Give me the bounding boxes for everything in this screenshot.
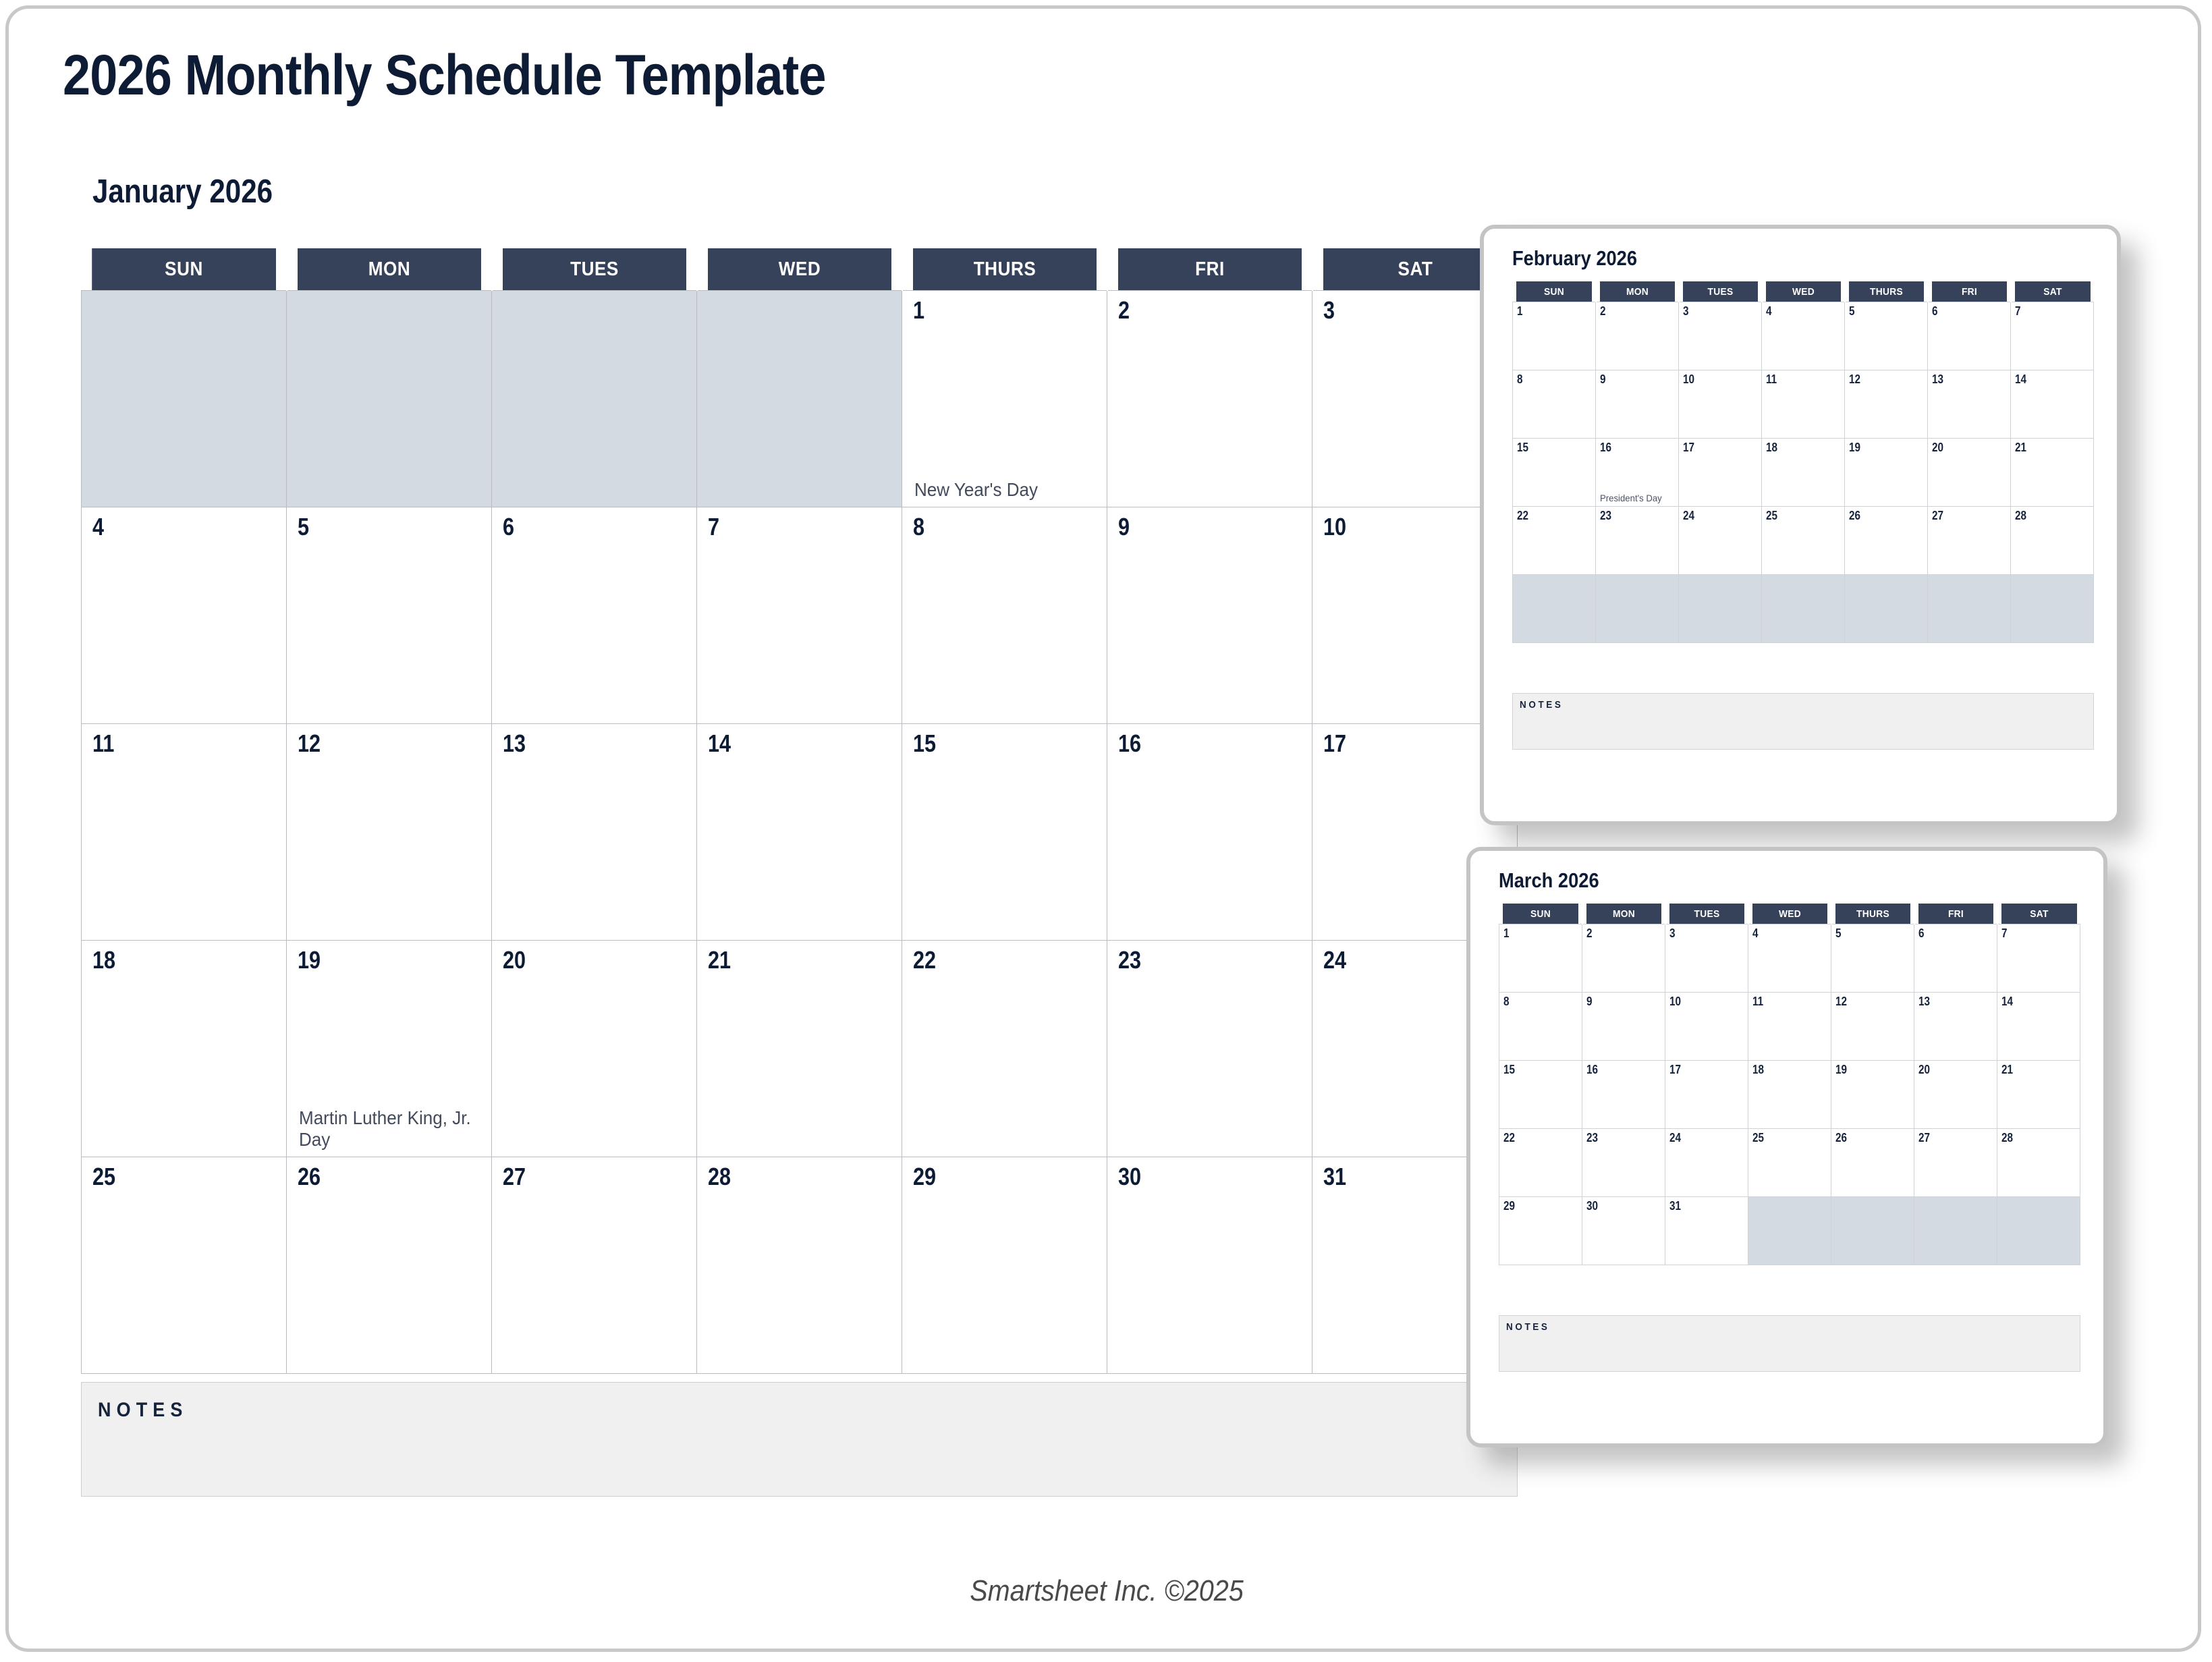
weekday-header-thurs: THURS bbox=[1834, 904, 1910, 924]
day-number: 25 bbox=[1766, 509, 1777, 523]
day-number: 4 bbox=[92, 513, 104, 541]
calendar-cell-day[interactable]: 27 bbox=[1928, 507, 2011, 575]
calendar-cell-day[interactable]: 3 bbox=[1665, 924, 1748, 993]
calendar-cell-day[interactable]: 18 bbox=[1748, 1061, 1831, 1129]
day-number: 1 bbox=[1503, 926, 1510, 941]
day-number: 18 bbox=[92, 946, 115, 974]
day-number: 18 bbox=[1766, 441, 1777, 455]
notes-label: NOTES bbox=[1520, 699, 1564, 711]
day-number: 27 bbox=[1918, 1131, 1930, 1145]
calendar-cell-empty bbox=[82, 291, 287, 507]
weekday-header-mon: MON bbox=[1585, 904, 1661, 924]
calendar-week-row: 891011121314 bbox=[1499, 993, 2080, 1061]
day-number: 23 bbox=[1586, 1131, 1598, 1145]
calendar-cell-day[interactable]: 28 bbox=[2011, 507, 2094, 575]
weekday-header-thurs: THURS bbox=[1848, 281, 1924, 302]
calendar-cell-day[interactable]: 6 bbox=[1914, 924, 1997, 993]
calendar-week-row: 22232425262728 bbox=[1499, 1129, 2080, 1197]
day-number: 25 bbox=[92, 1163, 115, 1191]
calendar-cell-day[interactable]: 28 bbox=[697, 1157, 902, 1374]
main-calendar-body: 1New Year's Day2345678910111213141516171… bbox=[82, 291, 1518, 1374]
calendar-cell-day[interactable]: 16President's Day bbox=[1596, 439, 1679, 507]
day-number: 12 bbox=[1835, 995, 1847, 1009]
calendar-cell-day[interactable]: 14 bbox=[1997, 993, 2080, 1061]
day-number: 17 bbox=[1669, 1063, 1681, 1077]
mini-calendar-body: 12345678910111213141516President's Day17… bbox=[1513, 302, 2094, 643]
day-number: 2 bbox=[1118, 296, 1130, 325]
calendar-cell-day[interactable]: 9 bbox=[1582, 993, 1665, 1061]
calendar-cell-day[interactable]: 20 bbox=[1928, 439, 2011, 507]
mini-calendar-body: 1234567891011121314151617181920212223242… bbox=[1499, 924, 2080, 1265]
day-number: 21 bbox=[708, 946, 731, 974]
calendar-cell-day[interactable]: 20 bbox=[1914, 1061, 1997, 1129]
calendar-cell-day[interactable]: 26 bbox=[1831, 1129, 1914, 1197]
day-number: 23 bbox=[1600, 509, 1611, 523]
calendar-cell-day[interactable]: 19 bbox=[1831, 1061, 1914, 1129]
calendar-cell-day[interactable]: 8 bbox=[902, 507, 1107, 724]
calendar-cell-day[interactable]: 3 bbox=[1679, 302, 1762, 370]
day-number: 14 bbox=[2015, 372, 2026, 387]
calendar-cell-day[interactable]: 16 bbox=[1582, 1061, 1665, 1129]
calendar-week-row bbox=[1513, 575, 2094, 643]
day-number: 19 bbox=[1849, 441, 1860, 455]
day-number: 1 bbox=[913, 296, 924, 325]
day-number: 31 bbox=[1323, 1163, 1346, 1191]
calendar-cell-empty bbox=[697, 291, 902, 507]
calendar-cell-day[interactable]: 18 bbox=[1762, 439, 1845, 507]
day-number: 8 bbox=[913, 513, 924, 541]
day-number: 28 bbox=[708, 1163, 731, 1191]
mini-notes-box[interactable]: NOTES bbox=[1499, 1315, 2080, 1372]
weekday-header-wed: WED bbox=[1765, 281, 1841, 302]
calendar-cell-day[interactable]: 2 bbox=[1596, 302, 1679, 370]
calendar-cell-day[interactable]: 20 bbox=[492, 941, 697, 1157]
day-number: 30 bbox=[1118, 1163, 1141, 1191]
day-number: 15 bbox=[913, 729, 936, 758]
day-number: 20 bbox=[1918, 1063, 1930, 1077]
calendar-week-row: 1819Martin Luther King, Jr. Day202122232… bbox=[82, 941, 1518, 1157]
main-weekday-header-row: SUNMONTUESWEDTHURSFRISAT bbox=[82, 248, 1518, 291]
day-number: 16 bbox=[1586, 1063, 1598, 1077]
calendar-cell-day[interactable]: 13 bbox=[492, 724, 697, 941]
day-number: 13 bbox=[503, 729, 526, 758]
calendar-cell-day[interactable]: 1New Year's Day bbox=[902, 291, 1107, 507]
main-month-title: January 2026 bbox=[92, 173, 273, 211]
holiday-label: New Year's Day bbox=[914, 479, 1087, 500]
day-number: 3 bbox=[1683, 304, 1689, 318]
calendar-cell-day[interactable]: 2 bbox=[1582, 924, 1665, 993]
calendar-cell-day[interactable]: 9 bbox=[1596, 370, 1679, 439]
weekday-header-tues: TUES bbox=[1668, 904, 1744, 924]
calendar-cell-day[interactable]: 14 bbox=[2011, 370, 2094, 439]
calendar-cell-day[interactable]: 6 bbox=[492, 507, 697, 724]
day-number: 27 bbox=[503, 1163, 526, 1191]
day-number: 22 bbox=[913, 946, 936, 974]
calendar-cell-day[interactable]: 11 bbox=[82, 724, 287, 941]
day-number: 6 bbox=[503, 513, 514, 541]
calendar-cell-day[interactable]: 22 bbox=[1499, 1129, 1582, 1197]
calendar-cell-empty bbox=[1914, 1197, 1997, 1265]
calendar-cell-day[interactable]: 10 bbox=[1679, 370, 1762, 439]
calendar-cell-day[interactable]: 1 bbox=[1513, 302, 1596, 370]
day-number: 9 bbox=[1600, 372, 1606, 387]
day-number: 7 bbox=[708, 513, 719, 541]
day-number: 6 bbox=[1932, 304, 1938, 318]
calendar-cell-day[interactable]: 19Martin Luther King, Jr. Day bbox=[287, 941, 492, 1157]
day-number: 9 bbox=[1118, 513, 1130, 541]
page-frame: 2026 Monthly Schedule Template January 2… bbox=[5, 5, 2201, 1652]
calendar-cell-day[interactable]: 25 bbox=[1748, 1129, 1831, 1197]
calendar-cell-day[interactable]: 9 bbox=[1107, 507, 1312, 724]
calendar-week-row: 25262728293031 bbox=[82, 1157, 1518, 1374]
calendar-cell-day[interactable]: 21 bbox=[697, 941, 902, 1157]
calendar-cell-day[interactable]: 23 bbox=[1582, 1129, 1665, 1197]
calendar-cell-day[interactable]: 22 bbox=[902, 941, 1107, 1157]
day-number: 26 bbox=[1835, 1131, 1847, 1145]
calendar-cell-day[interactable]: 27 bbox=[1914, 1129, 1997, 1197]
calendar-cell-day[interactable]: 13 bbox=[1914, 993, 1997, 1061]
calendar-cell-empty bbox=[1748, 1197, 1831, 1265]
calendar-cell-day[interactable]: 25 bbox=[82, 1157, 287, 1374]
weekday-header-tues: TUES bbox=[502, 248, 687, 291]
day-number: 5 bbox=[1835, 926, 1842, 941]
calendar-cell-day[interactable]: 16 bbox=[1107, 724, 1312, 941]
calendar-cell-day[interactable]: 29 bbox=[902, 1157, 1107, 1374]
weekday-header-sat: SAT bbox=[2000, 904, 2076, 924]
day-number: 19 bbox=[298, 946, 321, 974]
calendar-cell-day[interactable]: 11 bbox=[1748, 993, 1831, 1061]
calendar-cell-day[interactable]: 4 bbox=[1762, 302, 1845, 370]
calendar-cell-day[interactable]: 4 bbox=[1748, 924, 1831, 993]
calendar-cell-day[interactable]: 15 bbox=[1513, 439, 1596, 507]
calendar-cell-day[interactable]: 30 bbox=[1107, 1157, 1312, 1374]
calendar-cell-day[interactable]: 5 bbox=[287, 507, 492, 724]
calendar-cell-day[interactable]: 28 bbox=[1997, 1129, 2080, 1197]
day-number: 28 bbox=[2001, 1131, 2013, 1145]
weekday-header-sun: SUN bbox=[92, 248, 277, 291]
calendar-cell-day[interactable]: 27 bbox=[492, 1157, 697, 1374]
page-title: 2026 Monthly Schedule Template bbox=[63, 43, 826, 108]
day-number: 7 bbox=[2001, 926, 2008, 941]
calendar-week-row: 1516President's Day1718192021 bbox=[1513, 439, 2094, 507]
day-number: 2 bbox=[1600, 304, 1606, 318]
calendar-cell-day[interactable]: 8 bbox=[1513, 370, 1596, 439]
day-number: 19 bbox=[1835, 1063, 1847, 1077]
weekday-header-thurs: THURS bbox=[912, 248, 1097, 291]
weekday-header-mon: MON bbox=[297, 248, 482, 291]
calendar-cell-day[interactable]: 29 bbox=[1499, 1197, 1582, 1265]
weekday-header-fri: FRI bbox=[1931, 281, 2007, 302]
day-number: 12 bbox=[1849, 372, 1860, 387]
mini-notes-box[interactable]: NOTES bbox=[1512, 693, 2094, 750]
day-number: 10 bbox=[1683, 372, 1694, 387]
calendar-cell-empty bbox=[1928, 575, 2011, 643]
day-number: 11 bbox=[1766, 372, 1777, 387]
weekday-header-sat: SAT bbox=[2014, 281, 2090, 302]
day-number: 13 bbox=[1932, 372, 1943, 387]
day-number: 9 bbox=[1586, 995, 1593, 1009]
calendar-week-row: 1234567 bbox=[1499, 924, 2080, 993]
notes-label: NOTES bbox=[1506, 1321, 1550, 1333]
calendar-cell-day[interactable]: 11 bbox=[1762, 370, 1845, 439]
calendar-cell-day[interactable]: 2 bbox=[1107, 291, 1312, 507]
day-number: 14 bbox=[708, 729, 731, 758]
calendar-week-row: 11121314151617 bbox=[82, 724, 1518, 941]
day-number: 8 bbox=[1517, 372, 1523, 387]
calendar-cell-day[interactable]: 15 bbox=[902, 724, 1107, 941]
mini-month-title: March 2026 bbox=[1499, 868, 1599, 893]
notes-label: NOTES bbox=[98, 1399, 188, 1422]
calendar-cell-day[interactable]: 24 bbox=[1679, 507, 1762, 575]
calendar-cell-day[interactable]: 18 bbox=[82, 941, 287, 1157]
weekday-header-wed: WED bbox=[707, 248, 892, 291]
calendar-cell-empty bbox=[1831, 1197, 1914, 1265]
calendar-week-row: 22232425262728 bbox=[1513, 507, 2094, 575]
day-number: 21 bbox=[2001, 1063, 2013, 1077]
mini-month-title: February 2026 bbox=[1512, 246, 1637, 271]
day-number: 18 bbox=[1752, 1063, 1764, 1077]
weekday-header-mon: MON bbox=[1599, 281, 1675, 302]
day-number: 4 bbox=[1766, 304, 1772, 318]
calendar-cell-day[interactable]: 15 bbox=[1499, 1061, 1582, 1129]
calendar-cell-day[interactable]: 25 bbox=[1762, 507, 1845, 575]
calendar-cell-day[interactable]: 5 bbox=[1845, 302, 1928, 370]
weekday-header-fri: FRI bbox=[1917, 904, 1993, 924]
calendar-cell-day[interactable]: 7 bbox=[697, 507, 902, 724]
calendar-cell-day[interactable]: 19 bbox=[1845, 439, 1928, 507]
calendar-cell-day[interactable]: 21 bbox=[1997, 1061, 2080, 1129]
calendar-cell-day[interactable]: 30 bbox=[1582, 1197, 1665, 1265]
day-number: 26 bbox=[1849, 509, 1860, 523]
calendar-cell-empty bbox=[2011, 575, 2094, 643]
calendar-cell-empty bbox=[1679, 575, 1762, 643]
day-number: 31 bbox=[1669, 1199, 1681, 1213]
day-number: 6 bbox=[1918, 926, 1925, 941]
calendar-cell-day[interactable]: 12 bbox=[287, 724, 492, 941]
day-number: 11 bbox=[92, 729, 114, 758]
calendar-week-row: 15161718192021 bbox=[1499, 1061, 2080, 1129]
day-number: 15 bbox=[1517, 441, 1528, 455]
day-number: 23 bbox=[1118, 946, 1141, 974]
day-number: 21 bbox=[2015, 441, 2026, 455]
mini-calendar-card-march: March 2026 SUNMONTUESWEDTHURSFRISAT 1234… bbox=[1466, 847, 2107, 1447]
day-number: 2 bbox=[1586, 926, 1593, 941]
calendar-cell-day[interactable]: 12 bbox=[1845, 370, 1928, 439]
day-number: 5 bbox=[1849, 304, 1855, 318]
day-number: 29 bbox=[1503, 1199, 1515, 1213]
calendar-cell-empty bbox=[287, 291, 492, 507]
day-number: 26 bbox=[298, 1163, 321, 1191]
day-number: 25 bbox=[1752, 1131, 1764, 1145]
day-number: 22 bbox=[1503, 1131, 1515, 1145]
day-number: 29 bbox=[913, 1163, 936, 1191]
weekday-header-tues: TUES bbox=[1682, 281, 1758, 302]
day-number: 15 bbox=[1503, 1063, 1515, 1077]
day-number: 16 bbox=[1600, 441, 1611, 455]
calendar-week-row: 293031 bbox=[1499, 1197, 2080, 1265]
calendar-cell-empty bbox=[1762, 575, 1845, 643]
calendar-cell-empty bbox=[1513, 575, 1596, 643]
calendar-cell-day[interactable]: 7 bbox=[2011, 302, 2094, 370]
weekday-header-wed: WED bbox=[1751, 904, 1827, 924]
calendar-cell-day[interactable]: 1 bbox=[1499, 924, 1582, 993]
calendar-cell-day[interactable]: 17 bbox=[1665, 1061, 1748, 1129]
day-number: 20 bbox=[503, 946, 526, 974]
day-number: 11 bbox=[1752, 995, 1763, 1009]
calendar-cell-day[interactable]: 21 bbox=[2011, 439, 2094, 507]
calendar-cell-day[interactable]: 26 bbox=[1845, 507, 1928, 575]
weekday-header-sun: SUN bbox=[1502, 904, 1578, 924]
calendar-week-row: 45678910 bbox=[82, 507, 1518, 724]
day-number: 24 bbox=[1323, 946, 1346, 974]
day-number: 30 bbox=[1586, 1199, 1598, 1213]
day-number: 4 bbox=[1752, 926, 1759, 941]
calendar-cell-day[interactable]: 5 bbox=[1831, 924, 1914, 993]
calendar-cell-day[interactable]: 10 bbox=[1665, 993, 1748, 1061]
day-number: 14 bbox=[2001, 995, 2013, 1009]
calendar-cell-day[interactable]: 12 bbox=[1831, 993, 1914, 1061]
day-number: 28 bbox=[2015, 509, 2026, 523]
day-number: 17 bbox=[1323, 729, 1346, 758]
calendar-cell-day[interactable]: 8 bbox=[1499, 993, 1582, 1061]
weekday-header-sun: SUN bbox=[1516, 281, 1592, 302]
mini-calendar-grid-march: SUNMONTUESWEDTHURSFRISAT 123456789101112… bbox=[1499, 904, 2080, 1265]
calendar-cell-empty bbox=[492, 291, 697, 507]
day-number: 1 bbox=[1517, 304, 1523, 318]
footer-copyright: Smartsheet Inc. ©2025 bbox=[119, 1574, 2095, 1608]
calendar-cell-day[interactable]: 22 bbox=[1513, 507, 1596, 575]
calendar-cell-day[interactable]: 14 bbox=[697, 724, 902, 941]
day-number: 7 bbox=[2015, 304, 2021, 318]
calendar-cell-empty bbox=[1997, 1197, 2080, 1265]
day-number: 17 bbox=[1683, 441, 1694, 455]
holiday-label: President's Day bbox=[1600, 493, 1671, 503]
day-number: 24 bbox=[1683, 509, 1694, 523]
mini-weekday-header-row: SUNMONTUESWEDTHURSFRISAT bbox=[1513, 281, 2094, 302]
day-number: 5 bbox=[298, 513, 309, 541]
calendar-week-row: 891011121314 bbox=[1513, 370, 2094, 439]
weekday-header-fri: FRI bbox=[1117, 248, 1302, 291]
day-number: 12 bbox=[298, 729, 321, 758]
main-notes-box[interactable]: NOTES bbox=[81, 1382, 1518, 1497]
mini-calendar-grid-february: SUNMONTUESWEDTHURSFRISAT 123456789101112… bbox=[1512, 281, 2094, 643]
day-number: 8 bbox=[1503, 995, 1510, 1009]
day-number: 20 bbox=[1932, 441, 1943, 455]
calendar-cell-day[interactable]: 24 bbox=[1665, 1129, 1748, 1197]
calendar-cell-day[interactable]: 13 bbox=[1928, 370, 2011, 439]
mini-weekday-header-row: SUNMONTUESWEDTHURSFRISAT bbox=[1499, 904, 2080, 924]
calendar-week-row: 1234567 bbox=[1513, 302, 2094, 370]
calendar-cell-empty bbox=[1845, 575, 1928, 643]
calendar-cell-day[interactable]: 31 bbox=[1665, 1197, 1748, 1265]
calendar-cell-day[interactable]: 23 bbox=[1596, 507, 1679, 575]
calendar-week-row: 1New Year's Day23 bbox=[82, 291, 1518, 507]
day-number: 10 bbox=[1669, 995, 1681, 1009]
day-number: 16 bbox=[1118, 729, 1141, 758]
calendar-cell-day[interactable]: 23 bbox=[1107, 941, 1312, 1157]
day-number: 10 bbox=[1323, 513, 1346, 541]
calendar-cell-empty bbox=[1596, 575, 1679, 643]
calendar-cell-day[interactable]: 17 bbox=[1679, 439, 1762, 507]
mini-calendar-card-february: February 2026 SUNMONTUESWEDTHURSFRISAT 1… bbox=[1480, 225, 2121, 825]
day-number: 24 bbox=[1669, 1131, 1681, 1145]
main-calendar-grid: SUNMONTUESWEDTHURSFRISAT 1New Year's Day… bbox=[81, 248, 1518, 1374]
day-number: 13 bbox=[1918, 995, 1930, 1009]
calendar-cell-day[interactable]: 7 bbox=[1997, 924, 2080, 993]
day-number: 3 bbox=[1323, 296, 1335, 325]
day-number: 3 bbox=[1669, 926, 1676, 941]
holiday-label: Martin Luther King, Jr. Day bbox=[299, 1107, 472, 1150]
calendar-cell-day[interactable]: 4 bbox=[82, 507, 287, 724]
day-number: 27 bbox=[1932, 509, 1943, 523]
calendar-cell-day[interactable]: 6 bbox=[1928, 302, 2011, 370]
day-number: 22 bbox=[1517, 509, 1528, 523]
calendar-cell-day[interactable]: 26 bbox=[287, 1157, 492, 1374]
